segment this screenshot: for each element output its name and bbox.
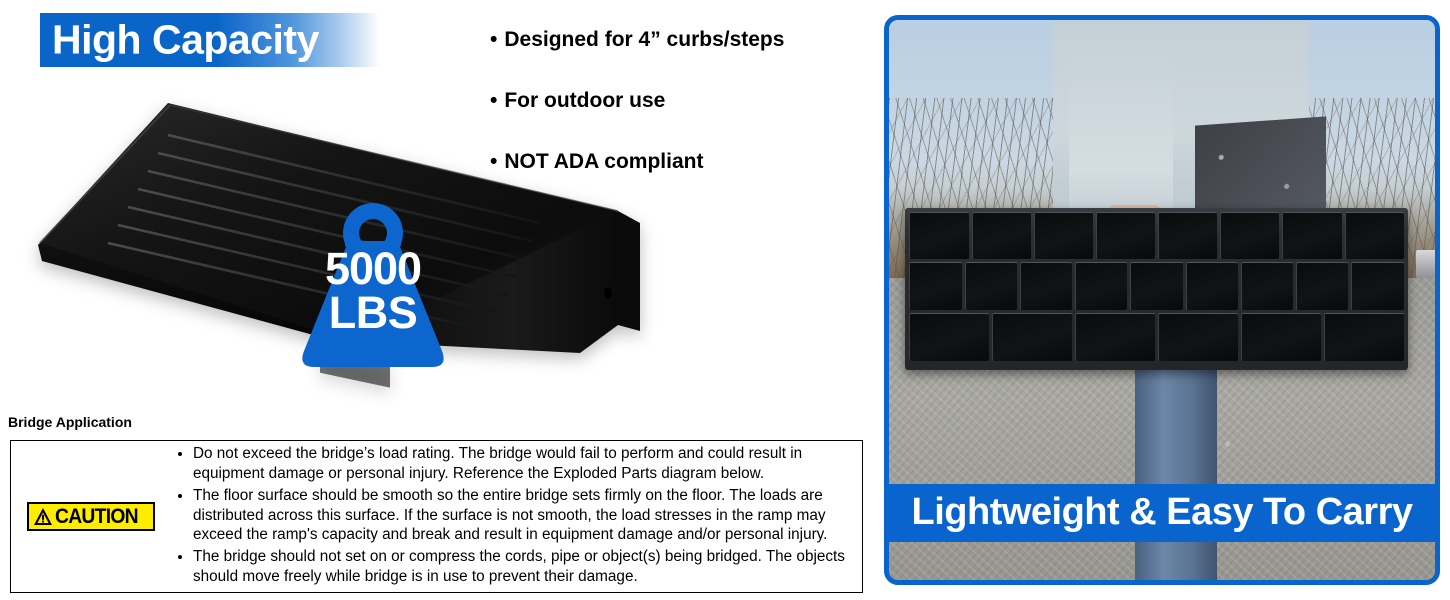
caution-list-item: The floor surface should be smooth so th… <box>193 486 852 546</box>
ramp-cell <box>1075 262 1127 310</box>
ramp-cell <box>1020 262 1072 310</box>
feature-item-label: Designed for 4” curbs/steps <box>504 28 784 51</box>
ramp-cell <box>1324 313 1404 361</box>
weight-capacity-badge: 5000 LBS <box>282 195 464 373</box>
ramp-cell <box>1034 212 1093 260</box>
photo-carried-ramp <box>905 208 1407 370</box>
ramp-cell <box>1096 212 1155 260</box>
ramp-cell <box>909 313 989 361</box>
ramp-cell-row <box>909 262 1403 310</box>
photo-ramp-bolt <box>1416 250 1435 278</box>
caution-warning-box: CAUTION Do not exceed the bridge’s load … <box>10 440 863 593</box>
ramp-cell <box>965 262 1017 310</box>
ramp-cell <box>1158 212 1217 260</box>
caution-list-item: The bridge should not set on or compress… <box>193 547 852 587</box>
high-capacity-banner: High Capacity <box>40 13 380 67</box>
ramp-cell <box>1130 262 1182 310</box>
ramp-cell <box>1186 262 1238 310</box>
ramp-cell <box>1158 313 1238 361</box>
caution-list-item: Do not exceed the bridge’s load rating. … <box>193 444 852 484</box>
product-carry-photo: Lightweight & Easy To Carry <box>889 20 1435 580</box>
ramp-cell-row <box>909 313 1403 361</box>
caution-label: CAUTION <box>55 506 138 527</box>
lightweight-caption-label: Lightweight & Easy To Carry <box>912 491 1413 533</box>
left-content-column: High Capacity •Designed for 4” curbs/ste… <box>0 0 872 600</box>
ramp-product-image: 5000 LBS <box>20 95 650 425</box>
ramp-cell <box>909 212 968 260</box>
lightweight-photo-panel: Lightweight & Easy To Carry <box>884 15 1440 585</box>
bridge-application-label: Bridge Application <box>8 414 132 430</box>
ramp-cell <box>1075 313 1155 361</box>
weight-icon <box>282 195 464 373</box>
ramp-cell-row <box>909 212 1403 260</box>
ramp-cell <box>1351 262 1403 310</box>
caution-badge-cell: CAUTION <box>11 502 171 531</box>
ramp-cell <box>992 313 1072 361</box>
ramp-cell <box>1241 262 1293 310</box>
ramp-cell <box>1345 212 1404 260</box>
warning-triangle-icon <box>33 507 53 526</box>
ramp-cell <box>1282 212 1341 260</box>
lightweight-caption-band: Lightweight & Easy To Carry <box>889 484 1435 542</box>
ramp-cell <box>972 212 1031 260</box>
bullet-icon: • <box>490 28 497 51</box>
caution-warning-list: Do not exceed the bridge’s load rating. … <box>171 444 862 589</box>
ramp-cell <box>1296 262 1348 310</box>
ramp-cell <box>1241 313 1321 361</box>
ramp-cell <box>1220 212 1279 260</box>
caution-badge: CAUTION <box>27 502 154 531</box>
high-capacity-banner-label: High Capacity <box>52 20 319 61</box>
ramp-cell <box>909 262 961 310</box>
feature-item: •Designed for 4” curbs/steps <box>490 28 860 51</box>
